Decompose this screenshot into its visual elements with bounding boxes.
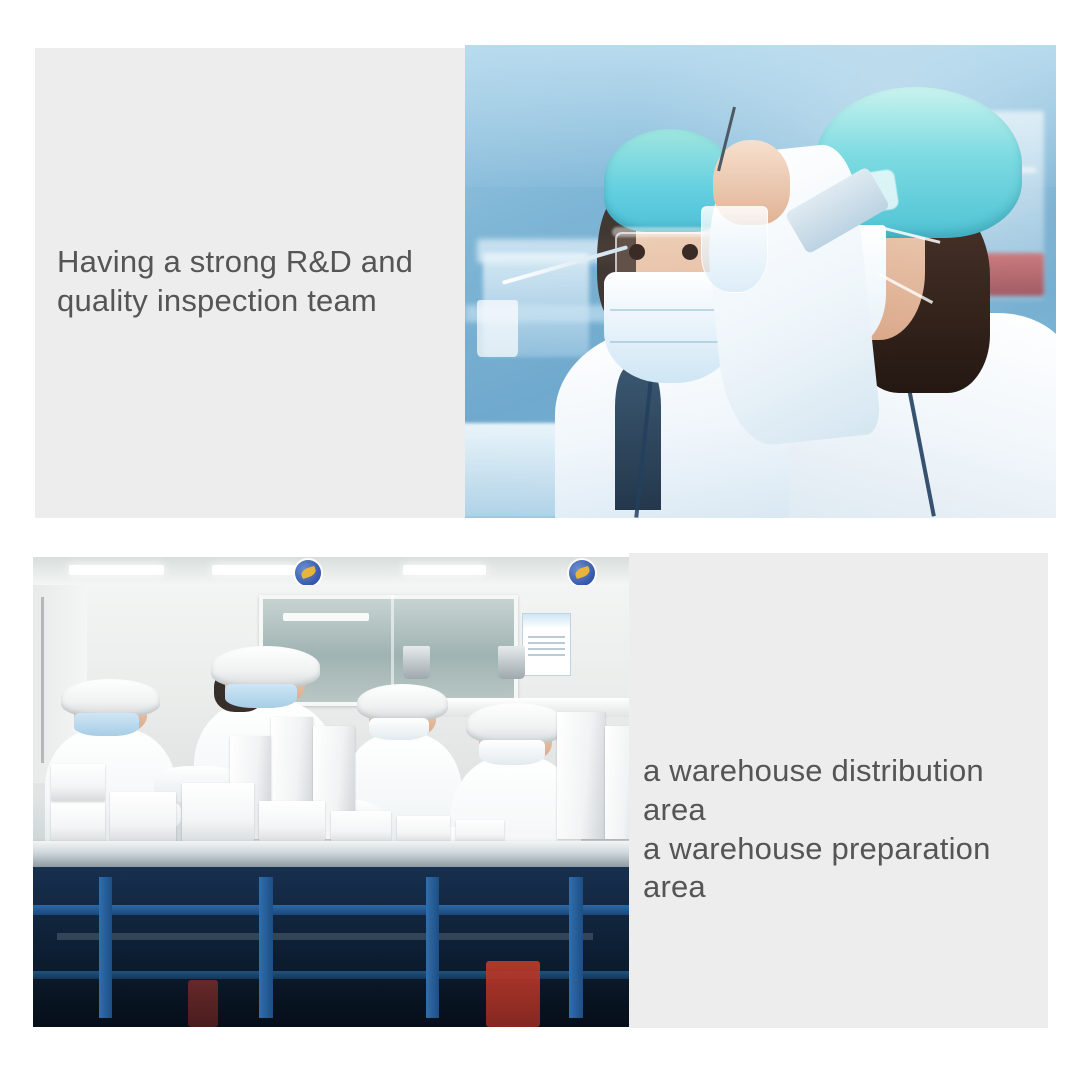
eye-left	[629, 244, 645, 260]
steel-pot-2	[498, 646, 525, 679]
white-hairnet	[357, 684, 448, 722]
face-mask	[369, 718, 429, 741]
ceiling-light-2	[212, 565, 295, 575]
carton-stack-back-4	[557, 712, 605, 839]
carton-7	[397, 816, 451, 844]
stainless-steel-table-top	[33, 841, 629, 867]
lab-qc-photo	[465, 45, 1056, 518]
door-frame	[391, 595, 394, 698]
bottom-caption-text: a warehouse distribution area a warehous…	[643, 752, 1053, 907]
table-leg-3	[426, 877, 439, 1018]
table-leg-2	[259, 877, 272, 1018]
white-hairnet	[211, 646, 320, 687]
company-logo-badge-1	[295, 560, 321, 586]
carton-3	[110, 792, 176, 844]
steel-pot-1	[403, 646, 430, 679]
carton-5	[259, 801, 325, 843]
blue-frame-rail-lower	[33, 971, 629, 979]
blue-frame-rail-upper	[33, 905, 629, 915]
carton-stack-back-5	[605, 726, 629, 839]
page-root: Having a strong R&D and quality inspecti…	[0, 0, 1080, 1080]
beaker	[477, 300, 518, 357]
carton-1	[51, 801, 105, 843]
red-object	[188, 980, 218, 1027]
carton-6	[331, 811, 391, 844]
face-mask	[74, 713, 140, 736]
table-leg-4	[569, 877, 582, 1018]
top-caption-text: Having a strong R&D and quality inspecti…	[57, 243, 477, 321]
table-under-shadow	[33, 867, 629, 1027]
notice-board	[522, 613, 572, 676]
face-mask	[225, 684, 297, 709]
face-mask	[479, 740, 545, 765]
white-hairnet	[466, 703, 566, 744]
warehouse-packing-photo	[33, 557, 629, 1027]
ceiling-light-1	[69, 565, 164, 575]
ceiling-light-3	[403, 565, 486, 575]
glass-flask	[701, 206, 768, 293]
lower-shelf	[57, 933, 593, 940]
white-hairnet	[61, 679, 161, 717]
carton-4	[182, 783, 254, 844]
red-stool	[486, 961, 540, 1027]
carton-2	[51, 764, 105, 802]
table-leg-1	[99, 877, 112, 1018]
carton-8	[456, 820, 504, 844]
